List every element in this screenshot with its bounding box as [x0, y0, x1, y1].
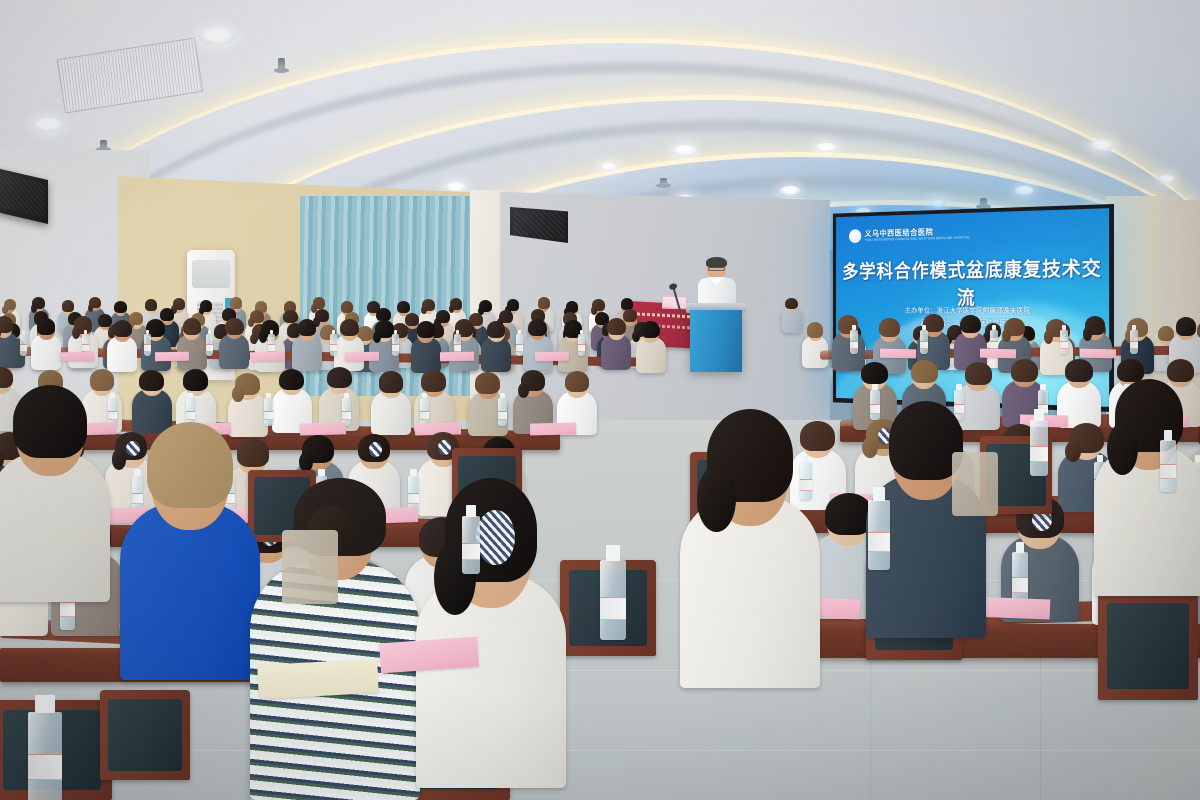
hair-bun	[259, 330, 267, 342]
bottle-label	[500, 412, 506, 417]
bottle-label	[1061, 342, 1066, 346]
water-bottle	[462, 516, 480, 574]
bottle-label	[269, 345, 273, 349]
hair-bun	[518, 383, 529, 398]
audience-member-hair	[1176, 317, 1196, 336]
handout-paper	[155, 352, 189, 362]
sprinkler-head	[980, 198, 987, 206]
hair-bun	[862, 437, 878, 458]
bottle-label	[344, 412, 350, 417]
logo-mark-icon	[849, 229, 861, 243]
audience-member-hair	[1117, 359, 1144, 382]
hair-bun	[1083, 327, 1092, 340]
handout-paper	[300, 422, 346, 435]
handout-paper	[345, 352, 379, 362]
audience-member-hair	[98, 314, 112, 327]
audience-member-hair	[230, 297, 242, 309]
bottle-label	[145, 345, 149, 349]
water-bottle	[420, 398, 429, 426]
audience-member-hair	[879, 318, 899, 337]
water-bottle	[264, 398, 273, 426]
bottle-label	[517, 345, 521, 349]
water-bottle	[144, 334, 151, 356]
audience-member-hair	[183, 369, 208, 390]
banner-text-line	[632, 312, 698, 318]
ac-display-panel	[192, 260, 230, 288]
hair-bun	[1107, 423, 1138, 475]
water-bottle	[850, 330, 858, 354]
hospital-logo: 义乌中西医结合医院 YIWU INTEGRATED CHINESE AND WE…	[849, 226, 970, 243]
audience-member-hair	[145, 299, 157, 311]
bottle-label	[802, 481, 809, 488]
handout-paper	[980, 349, 1016, 359]
audience-member-hair	[37, 318, 55, 335]
bottle-label	[266, 412, 272, 417]
audience-member-hair	[147, 422, 233, 508]
audience-member-hair	[911, 360, 938, 383]
handbag	[952, 452, 998, 516]
audience-member-hair	[397, 301, 409, 313]
bottle-label	[991, 342, 996, 346]
handout-paper	[60, 352, 94, 362]
bottle-label	[393, 345, 397, 349]
air-vent	[57, 37, 204, 113]
handout-paper	[880, 349, 916, 359]
water-bottle	[1160, 440, 1176, 492]
hair-bun	[112, 449, 127, 469]
hair-scrunchie	[126, 441, 139, 456]
bottle-label	[34, 757, 55, 774]
audience-member-hair	[641, 321, 659, 338]
bottle-label	[1163, 465, 1173, 474]
notebook	[257, 659, 379, 699]
audience-member-hair	[139, 370, 164, 391]
audience-member-hair	[341, 301, 353, 313]
hair-bun	[1044, 330, 1053, 343]
bottle-label	[1131, 342, 1136, 346]
audience-member-body	[782, 308, 802, 332]
glasses-icon	[708, 267, 725, 271]
audience-member-hair	[800, 421, 834, 451]
hair-scrunchie	[476, 510, 515, 565]
audience-chair	[100, 690, 190, 780]
audience-member-hair	[113, 320, 131, 337]
sprinkler-head	[660, 178, 667, 185]
audience-member-hair	[807, 322, 823, 337]
bottle-label	[1015, 578, 1025, 588]
audience-member-hair	[1011, 359, 1038, 382]
bottle-label	[21, 345, 25, 349]
water-bottle	[20, 334, 27, 356]
bottle-label	[110, 412, 116, 417]
audience-member-hair	[405, 313, 419, 326]
bottle-label	[331, 345, 335, 349]
ceiling-downlight	[1158, 175, 1175, 183]
water-bottle	[28, 712, 62, 800]
audience-member-hair	[960, 315, 980, 334]
audience-member-hair	[421, 370, 446, 391]
bottle-label	[872, 534, 886, 547]
audience-member-hair	[13, 385, 87, 457]
ceiling-downlight	[32, 118, 64, 132]
water-bottle	[920, 330, 928, 354]
audience-member-hair	[225, 318, 243, 335]
podium	[690, 310, 742, 372]
audience-member-hair	[237, 438, 269, 466]
hair-bun	[232, 386, 243, 401]
ceiling-downlight	[1090, 140, 1114, 151]
bottle-label	[605, 599, 621, 613]
logo-name-en: YIWU INTEGRATED CHINESE AND WESTERN MEDI…	[865, 236, 971, 242]
audience-member-hair	[417, 321, 435, 338]
water-bottle	[330, 334, 337, 356]
audience-member-hair	[785, 298, 797, 310]
audience-member-hair	[279, 369, 304, 390]
hair-bun	[421, 306, 427, 314]
water-bottle	[954, 390, 964, 420]
audience-member-hair	[528, 319, 546, 336]
audience-member-body	[219, 334, 249, 370]
bottle-label	[207, 345, 211, 349]
audience-member-hair	[965, 362, 992, 385]
audience-member-hair	[623, 309, 637, 322]
handout-paper	[530, 422, 576, 435]
hair-bun	[697, 466, 736, 533]
sprinkler-head	[100, 140, 107, 149]
sprinkler-head	[278, 58, 285, 70]
ceiling-downlight	[198, 28, 236, 45]
audience-member-hair	[487, 321, 505, 338]
handout-paper	[440, 352, 474, 362]
water-bottle	[600, 560, 626, 640]
water-bottle	[870, 390, 880, 420]
conference-photo: 义乌中西医结合医院 YIWU INTEGRATED CHINESE AND WE…	[0, 0, 1200, 800]
audience-member-hair	[621, 298, 633, 310]
water-bottle	[868, 500, 890, 570]
screen-title: 多学科合作模式盆底康复技术交流	[836, 252, 1109, 310]
audience-member-hair	[340, 319, 358, 336]
bottle-label	[1033, 447, 1044, 457]
handout-paper	[535, 352, 569, 362]
audience-member-hair	[114, 301, 126, 313]
audience-member-hair	[62, 300, 74, 312]
ceiling-downlight	[1015, 186, 1034, 195]
audience-member-hair	[1167, 359, 1194, 382]
bottle-label	[851, 342, 856, 346]
bottle-label	[410, 494, 417, 500]
audience-member-hair	[298, 319, 316, 336]
bottle-label	[83, 345, 87, 349]
audience-member-hair	[0, 316, 13, 333]
bottle-label	[63, 603, 72, 612]
water-bottle	[578, 334, 585, 356]
audience-member-hair	[565, 371, 590, 392]
water-bottle	[1130, 330, 1138, 354]
ceiling-downlight	[815, 143, 837, 152]
bottle-label	[579, 345, 583, 349]
water-bottle	[392, 334, 399, 356]
water-bottle	[498, 398, 507, 426]
water-bottle	[1030, 420, 1048, 476]
handout-paper	[1080, 349, 1116, 359]
bottle-label	[455, 345, 459, 349]
ceiling-downlight	[600, 163, 618, 171]
chair-upholstery	[108, 699, 182, 771]
audience-member-hair	[283, 310, 297, 323]
audience-member-hair	[861, 362, 888, 385]
audience-member-hair	[1065, 359, 1092, 382]
bottle-label	[956, 405, 962, 410]
audience-member-hair	[327, 367, 352, 388]
bottle-label	[134, 494, 141, 500]
bottle-label	[872, 405, 878, 410]
water-bottle	[206, 334, 213, 356]
water-bottle	[1060, 330, 1068, 354]
bottle-label	[422, 412, 428, 417]
ceiling-downlight	[930, 200, 946, 207]
audience-member-body	[832, 332, 865, 370]
audience-member-hair	[475, 372, 500, 393]
ceiling-downlight	[780, 186, 800, 195]
audience-member-hair	[607, 318, 625, 335]
hair-bun	[1065, 441, 1081, 462]
ceiling-downlight	[672, 145, 697, 156]
audience-member-hair	[379, 371, 404, 392]
audience-chair	[1098, 592, 1198, 700]
audience-member-hair	[183, 318, 201, 335]
bottle-label	[188, 412, 194, 417]
bottle-label	[921, 342, 926, 346]
water-bottle	[800, 462, 812, 500]
audience-member-hair	[538, 297, 550, 309]
water-bottle	[516, 334, 523, 356]
audience-member-hair	[160, 308, 174, 321]
audience-member-hair	[90, 369, 115, 390]
handbag	[282, 530, 338, 604]
handout-paper	[250, 352, 284, 362]
audience-member-body	[481, 337, 511, 373]
bottle-label	[465, 544, 476, 554]
chair-upholstery	[1107, 603, 1189, 689]
